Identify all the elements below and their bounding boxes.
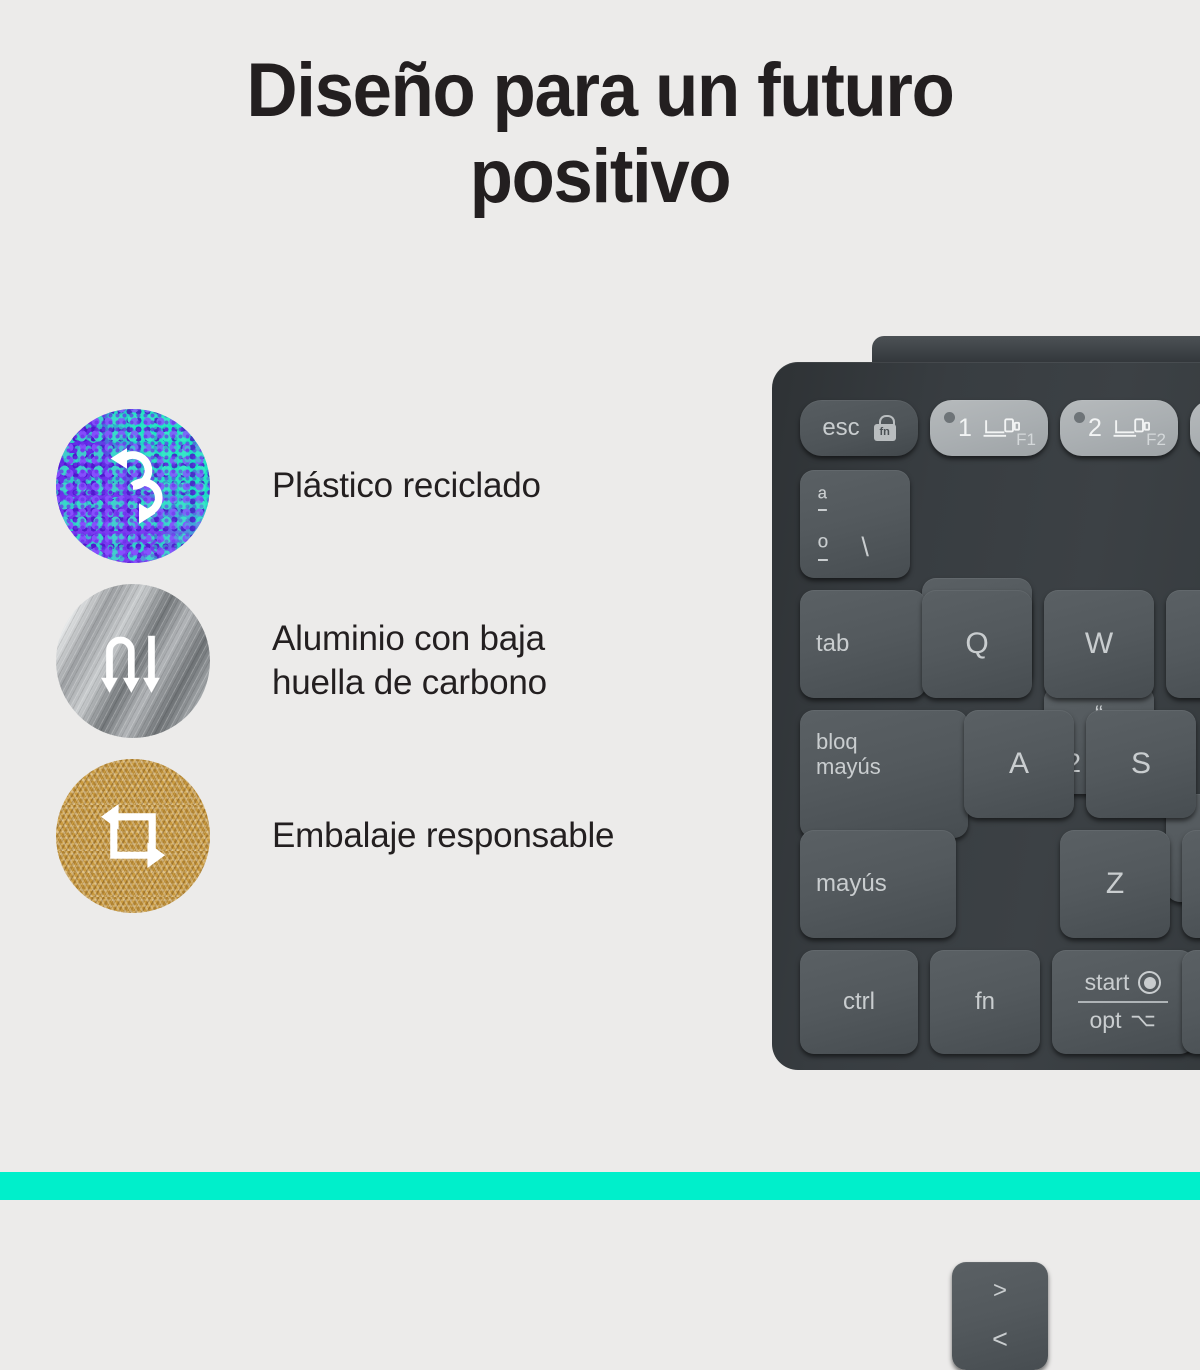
key-tab[interactable]: tab [800,590,926,698]
key-w-label: W [1085,627,1113,661]
key-f1-sublabel: F1 [1016,430,1036,449]
key-q-label: Q [965,627,988,661]
feature-label: Aluminio con baja huella de carbono [272,617,547,705]
feature-label: Plástico reciclado [272,464,541,508]
key-f2-number: 2 [1088,414,1102,442]
keyboard-product-image: esc fn 1 F1 [772,336,1200,1076]
key-cmd[interactable]: cm [1182,950,1200,1054]
key-f1[interactable]: 1 F1 [930,400,1048,456]
key-caps-lock-label: bloq mayús [816,730,881,779]
brand-accent-bar [0,1172,1200,1200]
key-shift[interactable]: mayús [800,830,956,938]
key-f1-number: 1 [958,414,972,442]
fn-lock-icon: fn [874,415,896,441]
key-ordinal-extra: \ [835,532,869,562]
key-angle-bottom: < [952,1324,1048,1354]
key-q[interactable]: Q [922,590,1032,698]
key-start-label: start [1085,970,1130,996]
option-key-icon [1130,1013,1156,1029]
key-start-opt[interactable]: start opt [1052,950,1194,1054]
key-a[interactable]: A [964,710,1074,818]
key-x[interactable] [1182,830,1200,938]
recycle-loop-icon [56,409,210,563]
page-title: Diseño para un futuro positivo [42,48,1158,220]
status-led-icon [1074,412,1085,423]
key-esc-label: esc [822,415,859,442]
key-a-label: A [1009,747,1029,781]
repeat-square-icon [56,759,210,913]
keyboard-key-grid: esc fn 1 F1 [772,362,1200,1070]
sustainability-feature-list: Plástico reciclado Aluminio con baja hue… [56,398,756,923]
key-ctrl[interactable]: ctrl [800,950,918,1054]
badge-responsible-packaging [56,759,210,913]
device-switch-icon [1110,415,1150,441]
key-e[interactable] [1166,590,1200,698]
key-fn-label: fn [975,989,995,1016]
key-divider [1078,1001,1168,1003]
feature-item-recycled-plastic: Plástico reciclado [56,398,756,573]
key-angle-brackets[interactable]: > < [952,1262,1048,1370]
key-z-label: Z [1106,867,1124,901]
key-ctrl-label: ctrl [843,989,875,1016]
key-angle-top: > [952,1278,1048,1305]
key-ordinal-bottom: º [818,532,828,562]
badge-recycled-plastic [56,409,210,563]
key-f2-sublabel: F2 [1146,430,1166,449]
key-s-label: S [1131,747,1151,781]
key-f2[interactable]: 2 F2 [1060,400,1178,456]
windows-start-icon [1138,971,1161,994]
key-esc[interactable]: esc fn [800,400,918,456]
key-s[interactable]: S [1086,710,1196,818]
key-caps-lock[interactable]: bloq mayús [800,710,968,838]
badge-low-carbon-aluminium [56,584,210,738]
key-tab-label: tab [816,631,849,658]
key-f3[interactable] [1190,400,1200,456]
key-opt-label: opt [1090,1008,1122,1034]
feature-item-responsible-packaging: Embalaje responsable [56,748,756,923]
status-led-icon [944,412,955,423]
key-w[interactable]: W [1044,590,1154,698]
key-fn[interactable]: fn [930,950,1040,1054]
device-switch-icon [980,415,1020,441]
aluminium-down-arrows-icon [56,584,210,738]
key-z[interactable]: Z [1060,830,1170,938]
feature-item-low-carbon-aluminium: Aluminio con baja huella de carbono [56,573,756,748]
key-ordinal[interactable]: ª º \ [800,470,910,578]
key-ordinal-top: ª [818,485,827,512]
key-shift-label: mayús [816,871,887,898]
feature-label: Embalaje responsable [272,814,614,858]
